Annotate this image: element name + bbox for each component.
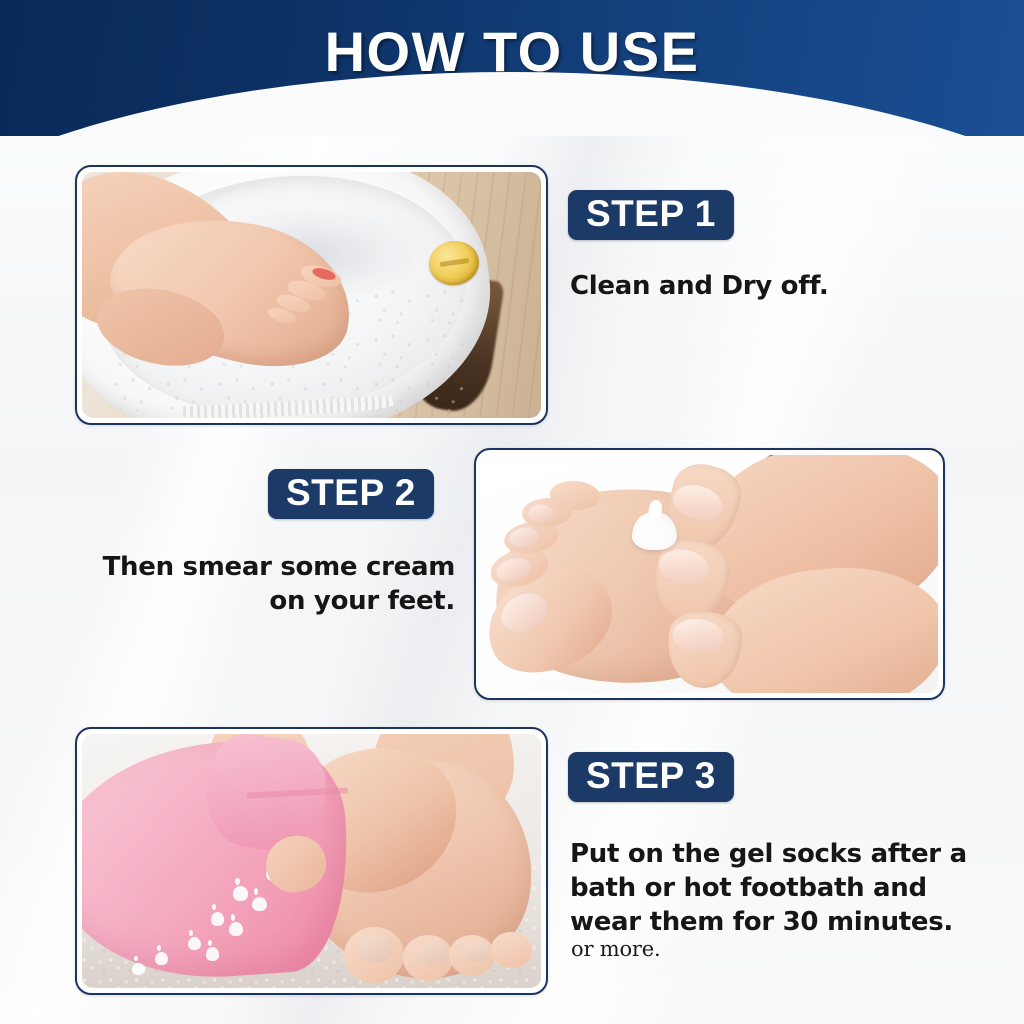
step-3-caption-sub: or more. [571, 937, 991, 961]
header-banner: HOW TO USE [0, 0, 1024, 136]
step-3-badge: STEP 3 [568, 752, 734, 802]
step-1-badge: STEP 1 [568, 190, 734, 240]
footprint-grip [229, 922, 243, 936]
footprint-grip [206, 947, 219, 960]
step-2-badge: STEP 2 [268, 469, 434, 519]
infographic-page: HOW TO USE S [0, 0, 1024, 1024]
step-2-caption-line-1: Then smear some cream [55, 551, 455, 585]
step-1-photo-frame [75, 165, 548, 425]
footprint-grip [132, 963, 144, 975]
step-2-photo-frame [474, 448, 945, 700]
toes-group [261, 265, 353, 329]
footprint-grip [252, 897, 267, 911]
step-2-caption: Then smear some cream on your feet. [55, 551, 455, 619]
footprint-grip [211, 912, 225, 926]
step-1-caption: Clean and Dry off. [570, 270, 990, 304]
step-2-caption-line-2: on your feet. [55, 585, 455, 619]
step-3-caption-line-2: bath or hot footbath and [570, 872, 990, 906]
footprint-grip [188, 937, 201, 950]
foot-bath-photo [82, 172, 541, 418]
step-3-caption-line-3: wear them for 30 minutes. [570, 906, 990, 940]
step-3-caption-line-1: Put on the gel socks after a [570, 838, 990, 872]
cream-application-photo [481, 455, 938, 693]
cream-dollop [632, 512, 678, 550]
footprint-grip [155, 952, 168, 965]
step-3-caption: Put on the gel socks after a bath or hot… [570, 838, 990, 939]
step-3-photo-frame [75, 727, 548, 995]
gel-sock-photo [82, 734, 541, 988]
footprint-grip [233, 886, 248, 900]
